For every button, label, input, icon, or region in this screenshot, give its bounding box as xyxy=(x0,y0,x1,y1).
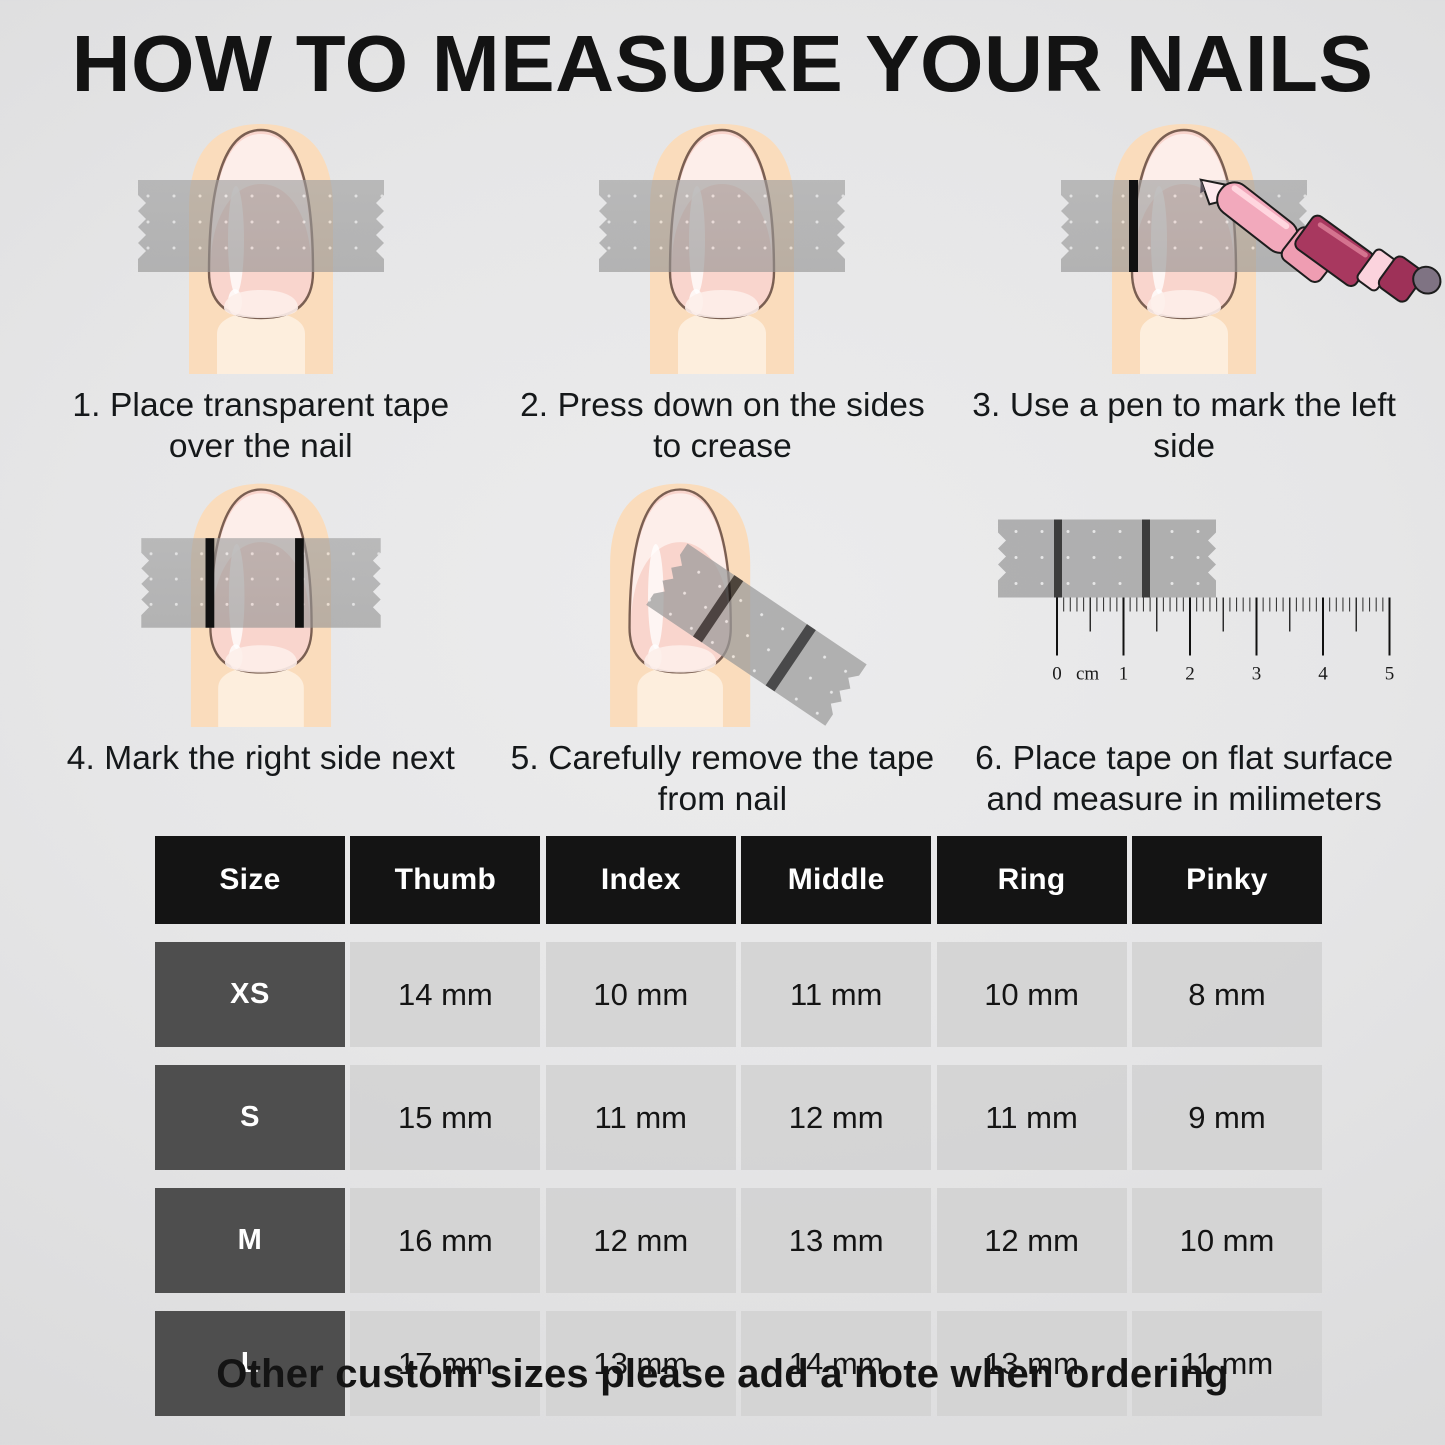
step-1: 1. Place transparent tape over the nail xyxy=(30,112,492,468)
step-2: 2. Press down on the sides to crease xyxy=(492,112,954,468)
ruler-label: 1 xyxy=(1119,663,1129,684)
table-cell: 9 mm xyxy=(1132,1065,1322,1170)
transparent-tape xyxy=(141,538,380,628)
step-1-illustration xyxy=(30,112,492,374)
table-cell: 12 mm xyxy=(741,1065,931,1170)
ruler-label: 0 xyxy=(1052,663,1062,684)
size-label-s: S xyxy=(155,1065,345,1170)
step-4-caption: 4. Mark the right side next xyxy=(67,739,455,780)
step-5-caption: 5. Carefully remove the tape from nail xyxy=(507,739,937,821)
tape-mark-left xyxy=(1054,519,1062,597)
table-cell: 11 mm xyxy=(937,1065,1127,1170)
finger-tape-peeled-icon xyxy=(552,472,892,727)
ruler-label: 4 xyxy=(1318,663,1328,684)
left-mark-line xyxy=(1129,180,1138,272)
tape-mark-right xyxy=(1142,519,1150,597)
table-cell: 12 mm xyxy=(937,1188,1127,1293)
step-1-caption: 1. Place transparent tape over the nail xyxy=(46,386,476,468)
step-5: 5. Carefully remove the tape from nail xyxy=(492,472,954,821)
finger-tape-creased-icon xyxy=(577,112,867,374)
measured-tape xyxy=(998,519,1216,597)
ruler: 012345cm xyxy=(1052,597,1394,684)
ruler-labels: 012345cm xyxy=(1052,663,1394,684)
ruler-label: 2 xyxy=(1185,663,1195,684)
table-cell: 10 mm xyxy=(1132,1188,1322,1293)
size-label-m: M xyxy=(155,1188,345,1293)
table-header-size: Size xyxy=(155,836,345,924)
ruler-label: 3 xyxy=(1252,663,1262,684)
size-chart-table: SizeThumbIndexMiddleRingPinkyXS14 mm10 m… xyxy=(155,836,1322,1416)
steps-grid: 1. Place transparent tape over the nail xyxy=(30,112,1415,820)
tape-on-ruler-icon: 012345cm xyxy=(984,472,1384,727)
step-5-illustration xyxy=(492,472,954,727)
table-header-thumb: Thumb xyxy=(350,836,540,924)
table-cell: 14 mm xyxy=(350,942,540,1047)
step-2-illustration xyxy=(492,112,954,374)
finger-tape-two-marks-icon xyxy=(116,472,406,727)
table-cell: 8 mm xyxy=(1132,942,1322,1047)
step-3-illustration xyxy=(953,112,1415,374)
footer-note: Other custom sizes please add a note whe… xyxy=(0,1352,1445,1397)
table-header-ring: Ring xyxy=(937,836,1127,924)
table-cell: 10 mm xyxy=(546,942,736,1047)
step-4: 4. Mark the right side next xyxy=(30,472,492,821)
size-label-xs: XS xyxy=(155,942,345,1047)
page-title: HOW TO MEASURE YOUR NAILS xyxy=(0,24,1445,104)
step-4-illustration xyxy=(30,472,492,727)
finger-with-tape-icon xyxy=(116,112,406,374)
table-header-middle: Middle xyxy=(741,836,931,924)
step-6-illustration: 012345cm xyxy=(953,472,1415,727)
step-3-caption: 3. Use a pen to mark the left side xyxy=(969,386,1399,468)
table-header-index: Index xyxy=(546,836,736,924)
step-2-caption: 2. Press down on the sides to crease xyxy=(507,386,937,468)
step-6-caption: 6. Place tape on flat surface and measur… xyxy=(969,739,1399,821)
table-header-pinky: Pinky xyxy=(1132,836,1322,924)
table-cell: 11 mm xyxy=(741,942,931,1047)
left-mark-line xyxy=(205,538,214,628)
table-cell: 12 mm xyxy=(546,1188,736,1293)
table-cell: 10 mm xyxy=(937,942,1127,1047)
right-mark-line xyxy=(295,538,304,628)
table-cell: 11 mm xyxy=(546,1065,736,1170)
ruler-label: 5 xyxy=(1385,663,1395,684)
table-cell: 13 mm xyxy=(741,1188,931,1293)
table-cell: 15 mm xyxy=(350,1065,540,1170)
ruler-ticks xyxy=(1057,597,1390,655)
transparent-tape-creased xyxy=(599,180,845,272)
table-cell: 16 mm xyxy=(350,1188,540,1293)
step-3: 3. Use a pen to mark the left side xyxy=(953,112,1415,468)
ruler-unit-label: cm xyxy=(1076,663,1099,684)
transparent-tape xyxy=(138,180,384,272)
finger-tape-pen-icon xyxy=(1019,112,1349,374)
step-6: 012345cm 6. Place tape on flat surface a… xyxy=(953,472,1415,821)
